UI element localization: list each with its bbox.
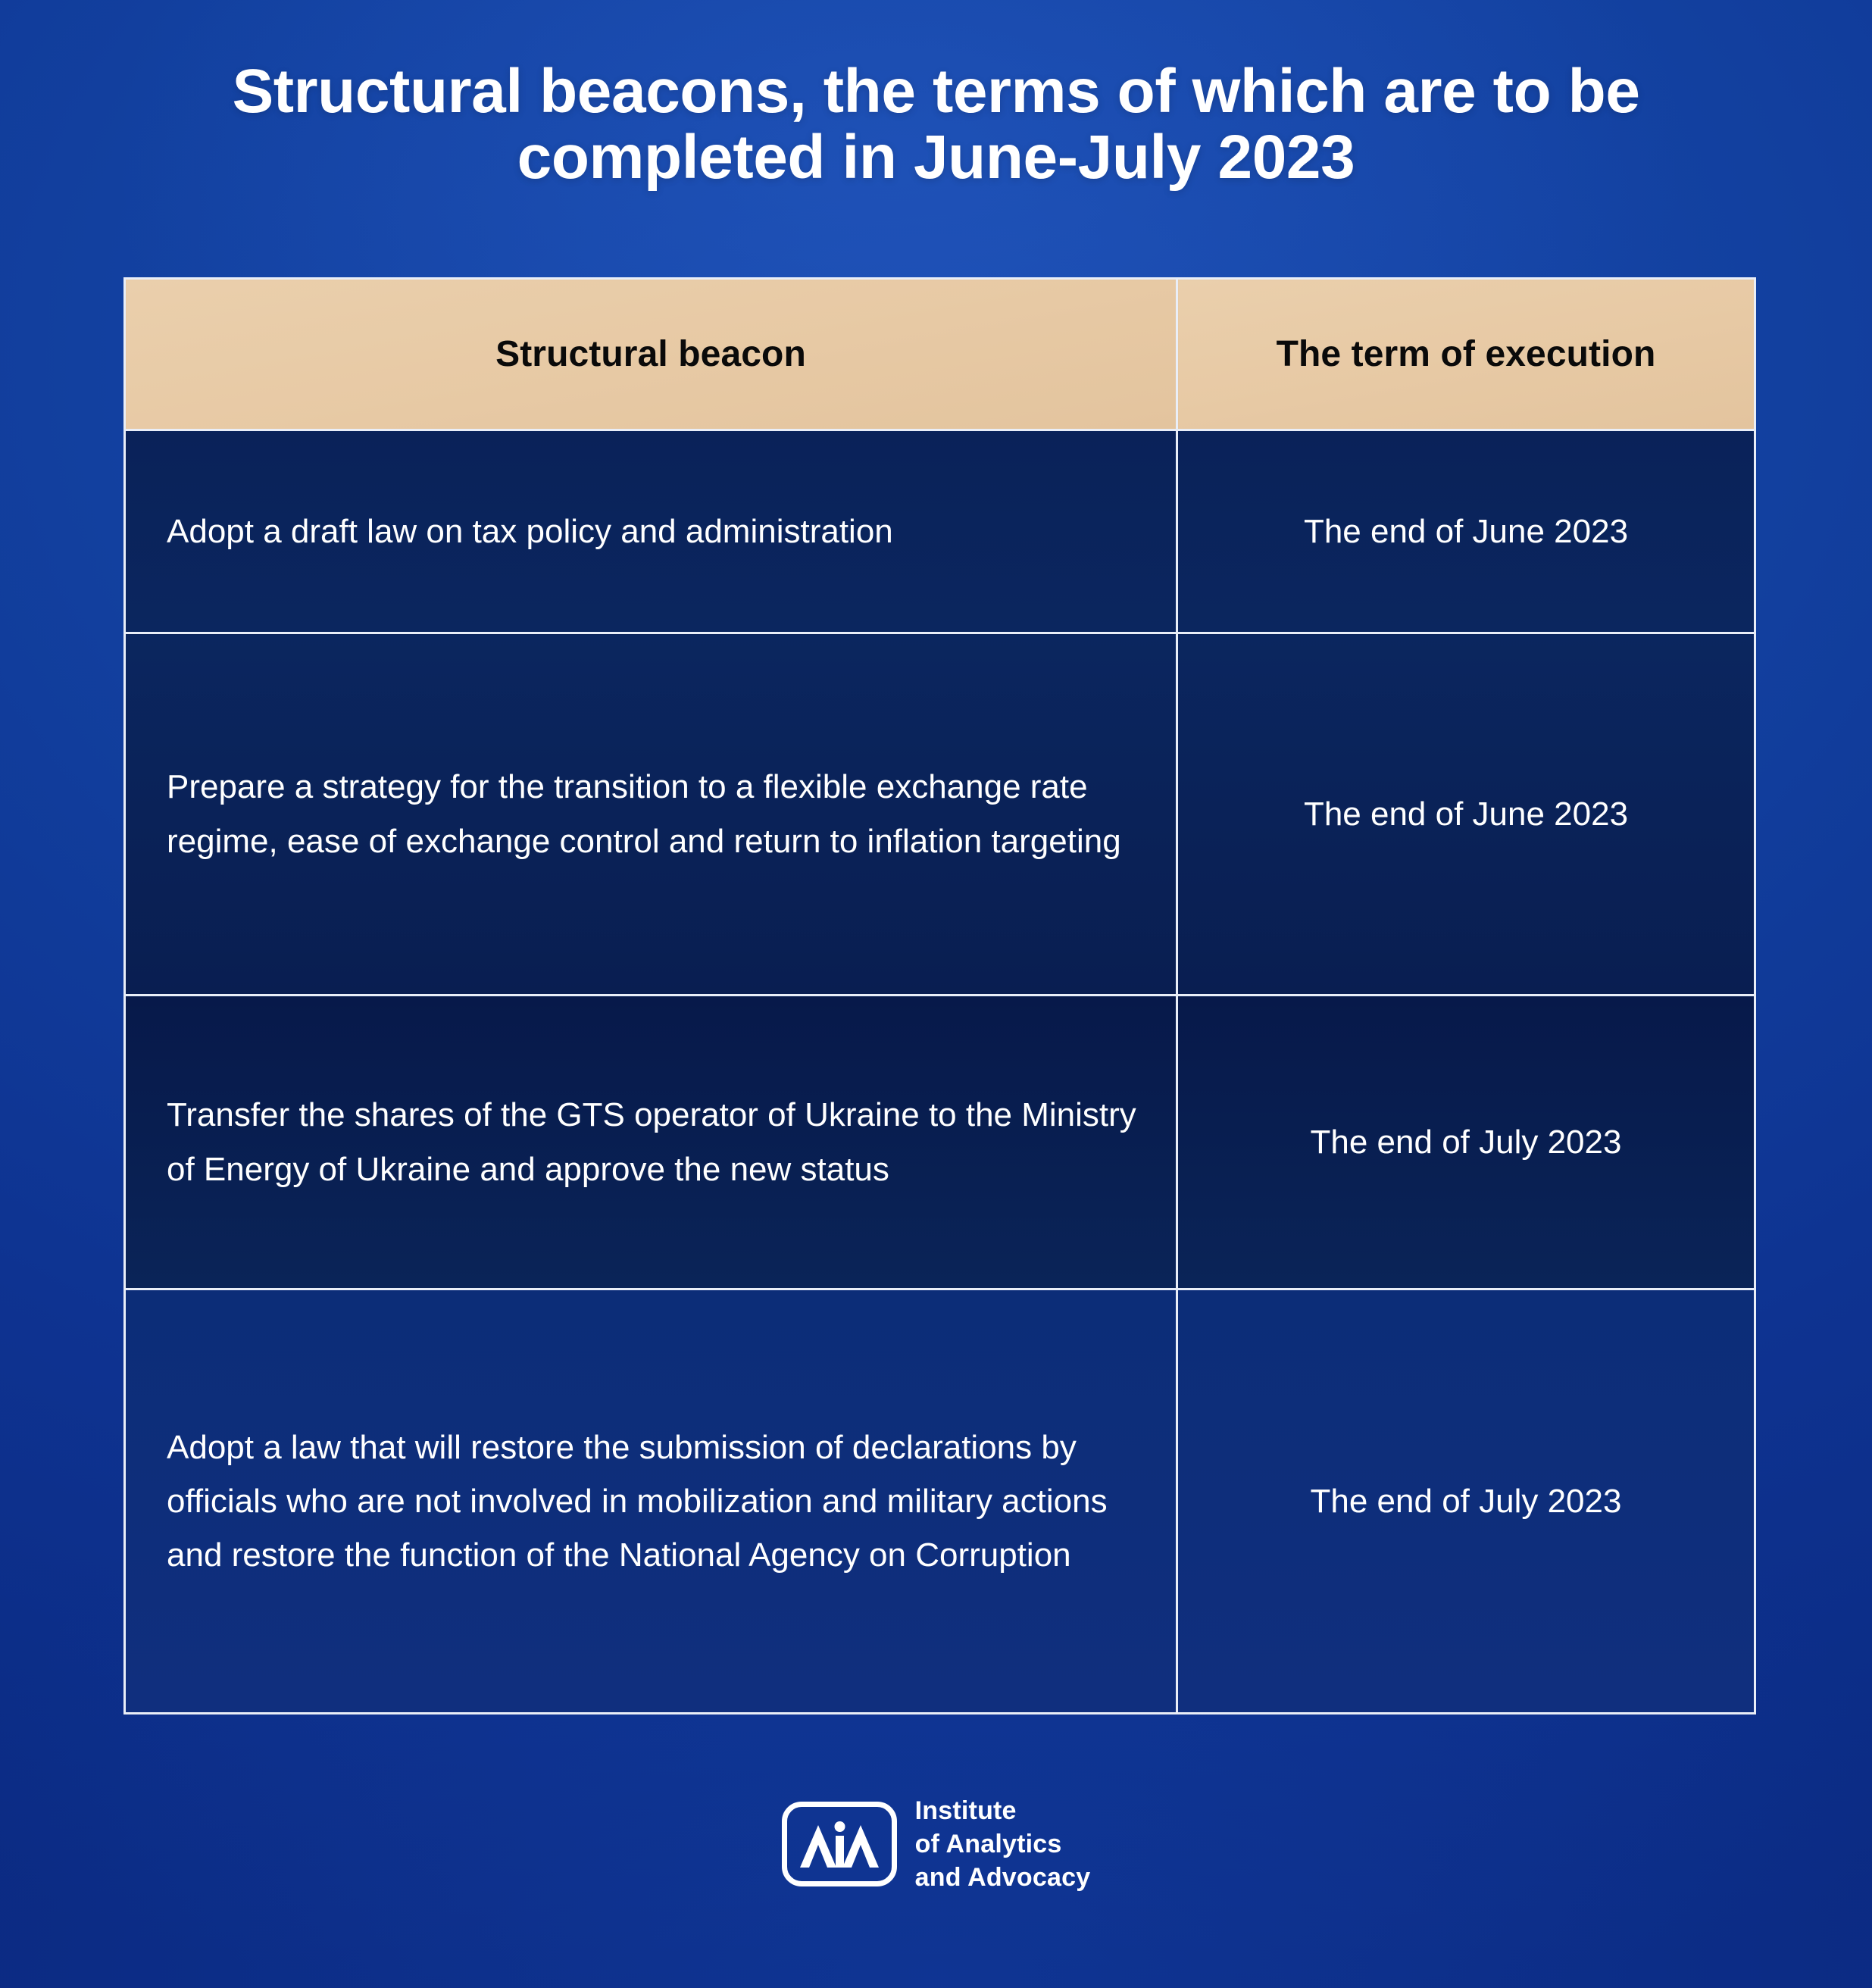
cell-term-of-execution: The end of July 2023 <box>1177 996 1755 1289</box>
cell-structural-beacon: Prepare a strategy for the transition to… <box>125 633 1177 996</box>
table-body: Adopt a draft law on tax policy and admi… <box>125 430 1755 1714</box>
logo-line-1: Institute <box>915 1794 1091 1827</box>
cell-term-of-execution: The end of June 2023 <box>1177 633 1755 996</box>
table-row: Prepare a strategy for the transition to… <box>125 633 1755 996</box>
table-row: Adopt a draft law on tax policy and admi… <box>125 430 1755 633</box>
page-title: Structural beacons, the terms of which a… <box>136 59 1736 191</box>
cell-structural-beacon: Transfer the shares of the GTS operator … <box>125 996 1177 1289</box>
cell-structural-beacon: Adopt a law that will restore the submis… <box>125 1289 1177 1714</box>
column-header-structural-beacon: Structural beacon <box>125 279 1177 430</box>
logo-wordmark: Institute of Analytics and Advocacy <box>915 1794 1091 1895</box>
structural-beacons-table: Structural beacon The term of execution … <box>123 277 1756 1714</box>
organization-logo: Institute of Analytics and Advocacy <box>0 1794 1872 1895</box>
column-header-term-of-execution: The term of execution <box>1177 279 1755 430</box>
logo-line-3: and Advocacy <box>915 1861 1091 1894</box>
infographic-page: Structural beacons, the terms of which a… <box>0 0 1872 1988</box>
cell-structural-beacon: Adopt a draft law on tax policy and admi… <box>125 430 1177 633</box>
logo-line-2: of Analytics <box>915 1827 1091 1861</box>
table-header: Structural beacon The term of execution <box>125 279 1755 430</box>
aia-logo-icon <box>782 1802 897 1886</box>
table-header-row: Structural beacon The term of execution <box>125 279 1755 430</box>
cell-term-of-execution: The end of July 2023 <box>1177 1289 1755 1714</box>
cell-term-of-execution: The end of June 2023 <box>1177 430 1755 633</box>
table-row: Adopt a law that will restore the submis… <box>125 1289 1755 1714</box>
table-row: Transfer the shares of the GTS operator … <box>125 996 1755 1289</box>
